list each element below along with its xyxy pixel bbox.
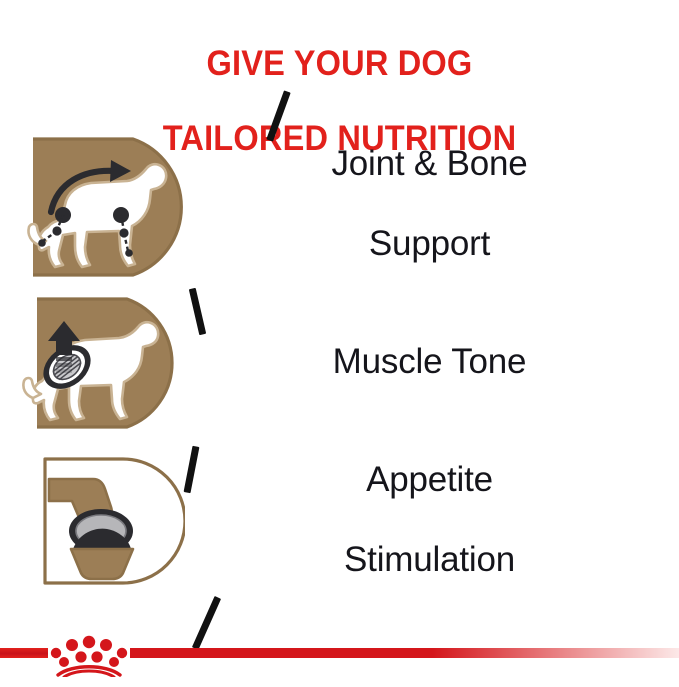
- muscle-tone-icon: [0, 285, 200, 440]
- benefit-label-joint-bone: Joint & Bone Support: [200, 104, 679, 303]
- footer-bar-left: [0, 648, 48, 658]
- benefit-label-appetite: Appetite Stimulation: [200, 420, 679, 619]
- benefit-label-muscle-tone: Muscle Tone: [200, 302, 679, 422]
- benefit-label-line-1: Appetite: [210, 460, 649, 500]
- headline-line-1: GIVE YOUR DOG: [24, 45, 655, 82]
- appetite-stimulation-icon: [0, 445, 200, 595]
- benefit-row-appetite: Appetite Stimulation: [0, 441, 679, 599]
- benefit-label-line-2: Stimulation: [210, 540, 649, 580]
- benefits-list: Joint & Bone Support: [0, 125, 679, 599]
- benefit-row-muscle-tone: Muscle Tone: [0, 283, 679, 441]
- benefit-row-joint-bone: Joint & Bone Support: [0, 125, 679, 283]
- royal-canin-crown-logo: [44, 631, 134, 677]
- benefit-label-line-2: Support: [210, 224, 649, 264]
- benefit-label-line-1: Muscle Tone: [210, 342, 649, 382]
- joint-bone-support-icon: [0, 127, 200, 282]
- benefit-label-line-1: Joint & Bone: [210, 144, 649, 184]
- promo-panel: GIVE YOUR DOG TAILORED NUTRITION: [0, 0, 679, 687]
- footer-bar-right: [130, 648, 679, 658]
- footer-logo-bar: [0, 625, 679, 687]
